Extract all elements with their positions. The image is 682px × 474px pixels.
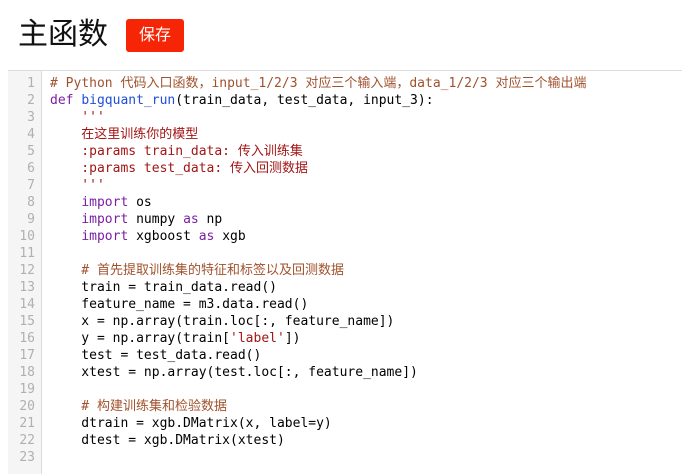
code-token: :params train_data: 传入训练集 — [50, 144, 303, 159]
code-line[interactable]: # 首先提取训练集的特征和标签以及回测数据 — [50, 262, 682, 279]
code-line[interactable]: x = np.array(train.loc[:, feature_name]) — [50, 313, 682, 330]
code-token: def — [50, 93, 81, 108]
line-number: 3 — [8, 109, 41, 126]
code-line[interactable]: ''' — [50, 109, 682, 126]
code-token — [50, 229, 81, 244]
code-token: 在这里训练你的模型 — [50, 127, 198, 142]
code-token: ''' — [50, 110, 105, 125]
code-line[interactable]: # Python 代码入口函数，input_1/2/3 对应三个输入端，data… — [50, 75, 682, 92]
code-line[interactable]: y = np.array(train['label']) — [50, 330, 682, 347]
line-number: 9 — [8, 211, 41, 228]
line-number: 6 — [8, 160, 41, 177]
code-line[interactable]: import numpy as np — [50, 211, 682, 228]
code-token: xtest = np.array(test.loc[:, feature_nam… — [50, 365, 418, 380]
line-number: 13 — [8, 279, 41, 296]
code-token: as — [199, 229, 215, 244]
code-token: ]) — [285, 331, 301, 346]
code-token: bigquant_run — [81, 93, 175, 108]
code-token: xgb — [214, 229, 245, 244]
line-number-gutter: 1234567891011121314151617181920212223 — [8, 71, 42, 474]
code-token: os — [128, 195, 151, 210]
line-number: 23 — [8, 449, 41, 466]
line-number: 2 — [8, 92, 41, 109]
line-number: 19 — [8, 381, 41, 398]
page-header: 主函数 保存 — [0, 0, 682, 70]
line-number: 16 — [8, 330, 41, 347]
code-token — [50, 195, 81, 210]
code-token: :params test_data: 传入回测数据 — [50, 161, 308, 176]
line-number: 10 — [8, 228, 41, 245]
page-title: 主函数 — [18, 18, 108, 52]
code-line[interactable]: def bigquant_run(train_data, test_data, … — [50, 92, 682, 109]
code-editor[interactable]: 1234567891011121314151617181920212223 # … — [8, 70, 682, 474]
code-token — [50, 212, 81, 227]
code-token: dtrain = xgb.DMatrix(x, label=y) — [50, 416, 332, 431]
code-token: xgboost — [128, 229, 198, 244]
code-line[interactable]: dtest = xgb.DMatrix(xtest) — [50, 432, 682, 449]
code-token: train = train_data.read() — [50, 280, 277, 295]
line-number: 20 — [8, 398, 41, 415]
line-number: 14 — [8, 296, 41, 313]
code-line[interactable]: 在这里训练你的模型 — [50, 126, 682, 143]
code-token: feature_name = m3.data.read() — [50, 297, 308, 312]
code-token: test = test_data.read() — [50, 348, 261, 363]
code-token: as — [183, 212, 199, 227]
line-number: 12 — [8, 262, 41, 279]
code-line[interactable] — [50, 245, 682, 262]
code-token: # 首先提取训练集的特征和标签以及回测数据 — [50, 263, 344, 278]
code-line[interactable]: # 构建训练集和检验数据 — [50, 398, 682, 415]
code-line[interactable]: import xgboost as xgb — [50, 228, 682, 245]
code-line[interactable]: xtest = np.array(test.loc[:, feature_nam… — [50, 364, 682, 381]
code-token: np — [199, 212, 222, 227]
line-number: 22 — [8, 432, 41, 449]
line-number: 7 — [8, 177, 41, 194]
code-token: # 构建训练集和检验数据 — [50, 399, 227, 414]
code-token: import — [81, 229, 128, 244]
line-number: 11 — [8, 245, 41, 262]
code-token: import — [81, 195, 128, 210]
save-button[interactable]: 保存 — [126, 19, 184, 52]
code-line[interactable]: ''' — [50, 177, 682, 194]
code-line[interactable]: dtrain = xgb.DMatrix(x, label=y) — [50, 415, 682, 432]
code-token: y = np.array(train[ — [50, 331, 230, 346]
code-line[interactable]: import os — [50, 194, 682, 211]
code-line[interactable] — [50, 381, 682, 398]
code-line[interactable] — [50, 449, 682, 466]
line-number: 21 — [8, 415, 41, 432]
code-line[interactable]: :params test_data: 传入回测数据 — [50, 160, 682, 177]
code-token: x = np.array(train.loc[:, feature_name]) — [50, 314, 394, 329]
code-token: 'label' — [230, 331, 285, 346]
code-token: (train_data, test_data, input_3): — [175, 93, 433, 108]
line-number: 5 — [8, 143, 41, 160]
line-number: 8 — [8, 194, 41, 211]
code-token: import — [81, 212, 128, 227]
code-line[interactable]: test = test_data.read() — [50, 347, 682, 364]
line-number: 17 — [8, 347, 41, 364]
line-number: 18 — [8, 364, 41, 381]
code-token: dtest = xgb.DMatrix(xtest) — [50, 433, 285, 448]
code-line[interactable]: feature_name = m3.data.read() — [50, 296, 682, 313]
code-token: numpy — [128, 212, 183, 227]
line-number: 1 — [8, 75, 41, 92]
line-number: 15 — [8, 313, 41, 330]
code-content[interactable]: # Python 代码入口函数，input_1/2/3 对应三个输入端，data… — [42, 71, 682, 474]
code-line[interactable]: :params train_data: 传入训练集 — [50, 143, 682, 160]
line-number: 4 — [8, 126, 41, 143]
code-token: ''' — [50, 178, 105, 193]
code-token: # Python 代码入口函数，input_1/2/3 对应三个输入端，data… — [50, 76, 586, 91]
code-line[interactable]: train = train_data.read() — [50, 279, 682, 296]
